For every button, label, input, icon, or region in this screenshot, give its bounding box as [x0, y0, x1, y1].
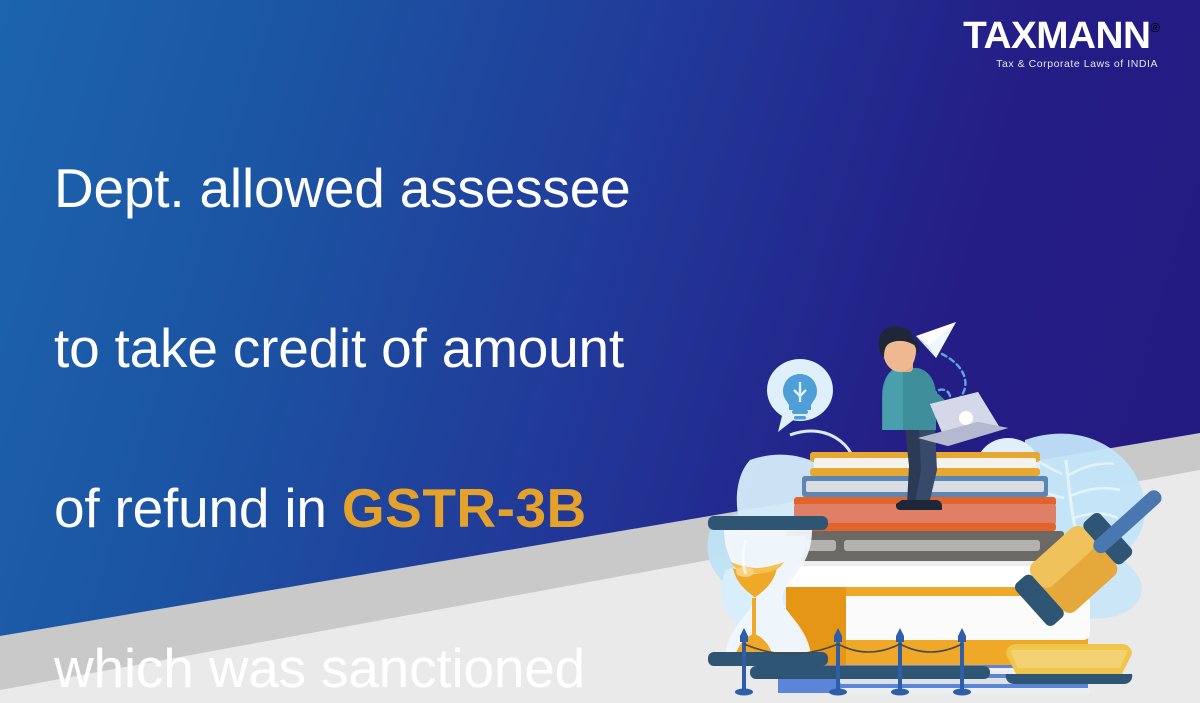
logo-word-text: TAXMANN	[963, 16, 1150, 56]
logo-wordmark: TAXMANN®	[965, 16, 1158, 56]
poster-canvas: TAXMANN® Tax & Corporate Laws of INDIA D…	[0, 0, 1200, 703]
taxmann-logo: TAXMANN® Tax & Corporate Laws of INDIA	[965, 16, 1158, 70]
lightbulb-speech-bubble-icon	[767, 359, 833, 432]
logo-tagline: Tax & Corporate Laws of INDIA	[965, 58, 1158, 70]
headline-line-1: Dept. allowed assessee	[54, 148, 874, 228]
headline-accent-gstr3b: GSTR-3B	[342, 477, 587, 539]
registered-trademark-icon: ®	[1150, 20, 1160, 35]
illustration	[690, 300, 1200, 703]
headline-line-3-prefix: of refund in	[54, 477, 342, 539]
